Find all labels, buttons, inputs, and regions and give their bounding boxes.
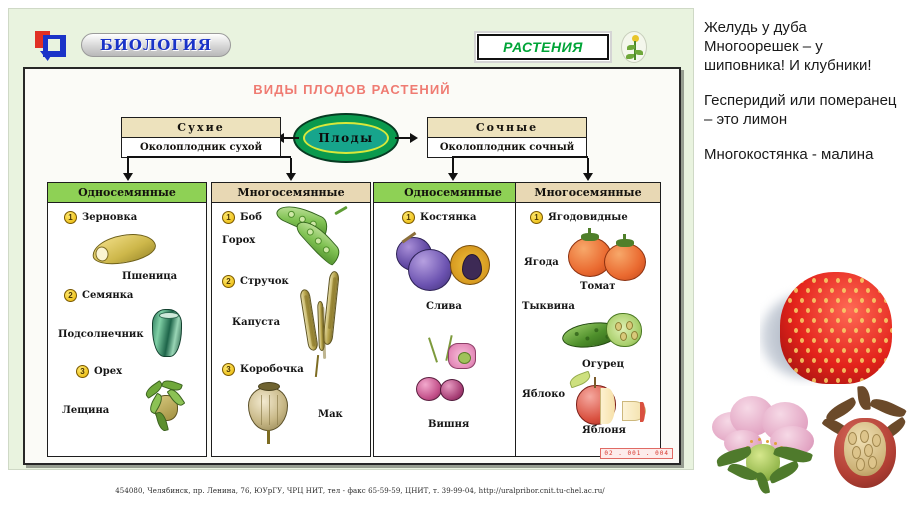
entry-label: Зерновка [82, 212, 137, 223]
entry-label: Стручок [240, 276, 289, 287]
subject-badge: БИОЛОГИЯ [81, 33, 231, 57]
entry-label: Коробочка [240, 364, 304, 375]
subject-label: БИОЛОГИЯ [100, 36, 212, 54]
column-dry-polyspermous: Многосемянные 1 Боб Горох 2 Стручок [211, 182, 371, 457]
rosehip-illustrations [706, 382, 906, 504]
label-yabloko: Яблоко [522, 389, 565, 400]
entry-label: Орех [94, 366, 122, 377]
caption-sliva: Слива [426, 301, 462, 312]
caption-vishnya: Вишня [428, 419, 469, 430]
column-2-header: Многосемянные [212, 183, 370, 203]
entry-zernovka: 1 Зерновка [64, 211, 137, 224]
number-badge-icon: 1 [222, 211, 235, 224]
notes-panel: Желудь у дуба Многоорешек – у шиповника!… [704, 18, 904, 180]
entry-label: Костянка [420, 212, 476, 223]
center-node-fruits: Плоды [293, 113, 399, 163]
tomato-illustration [564, 231, 656, 283]
category-dry-title: Сухие [122, 118, 280, 138]
center-node-label: Плоды [318, 131, 373, 145]
poster-footer: 454080, Челябинск, пр. Ленина, 76, ЮУрГУ… [17, 487, 703, 495]
caption-pshenica: Пшеница [122, 271, 177, 282]
column-4-header: Многосемянные [516, 183, 660, 203]
entry-korobochka: 3 Коробочка [222, 363, 304, 376]
diagram-board: ВИДЫ ПЛОДОВ РАСТЕНИЙ Плоды Сухие Околопл… [23, 67, 681, 465]
topic-badge: РАСТЕНИЯ [477, 34, 609, 60]
poppy-capsule-illustration [248, 387, 288, 431]
category-juicy-title: Сочные [428, 118, 586, 138]
entry-label: Ягодовидные [548, 212, 628, 223]
entry-yagodovidnye: 1 Ягодовидные [530, 211, 628, 224]
entry-kostyanka: 1 Костянка [402, 211, 476, 224]
caption-goroh: Горох [222, 235, 255, 246]
entry-label: Боб [240, 212, 262, 223]
category-juicy-subtitle: Околоплодник сочный [428, 138, 586, 157]
connector-dry-right [290, 158, 292, 174]
strawberry-photo [760, 268, 910, 386]
caption-ogurec: Огурец [582, 359, 624, 370]
rosehip-fruit-illustration [822, 392, 908, 492]
plum-illustration [392, 233, 516, 293]
sunflower-seed-illustration [152, 309, 182, 357]
entry-struchok: 2 Стручок [222, 275, 289, 288]
entry-label: Семянка [82, 290, 133, 301]
pea-pod-illustration [268, 207, 368, 269]
entry-bob: 1 Боб [222, 211, 262, 224]
number-badge-icon: 1 [402, 211, 415, 224]
caption-kapusta: Капуста [232, 317, 280, 328]
number-badge-icon: 1 [530, 211, 543, 224]
caption-mak: Мак [318, 409, 343, 420]
poster-header: БИОЛОГИЯ РАСТЕНИЯ [9, 9, 693, 61]
caption-tomat: Томат [580, 281, 615, 292]
connector-juicy-left [452, 158, 454, 174]
cherry-illustration [398, 333, 508, 413]
category-dry-subtitle: Околоплодник сухой [122, 138, 280, 157]
biology-poster: БИОЛОГИЯ РАСТЕНИЯ ВИДЫ ПЛОДОВ РАСТЕНИЙ П… [8, 8, 694, 470]
label-yagoda: Ягода [524, 257, 559, 268]
number-badge-icon: 3 [222, 363, 235, 376]
apple-illustration [570, 371, 660, 429]
cabbage-silique-illustration [294, 267, 364, 377]
entry-oreh: 3 Орех [76, 365, 122, 378]
screenshot-root: БИОЛОГИЯ РАСТЕНИЯ ВИДЫ ПЛОДОВ РАСТЕНИЙ П… [0, 0, 910, 512]
number-badge-icon: 2 [222, 275, 235, 288]
note-text: Многокостянка - малина [704, 145, 904, 164]
caption-leshina: Лещина [62, 405, 109, 416]
number-badge-icon: 2 [64, 289, 77, 302]
biology-logo-icon [35, 31, 71, 61]
column-juicy-polyspermous: Многосемянные 1 Ягодовидные Ягода Томат … [515, 182, 661, 457]
caption-podsolnechnik: Подсолнечник [58, 329, 144, 340]
arrow-right-icon [395, 137, 411, 139]
connector-juicy-right [587, 158, 589, 174]
arrow-left-icon [283, 137, 299, 139]
entry-semyanka: 2 Семянка [64, 289, 133, 302]
plant-icon [621, 31, 647, 63]
cucumber-illustration [562, 309, 658, 361]
caption-yablonya: Яблоня [582, 425, 626, 436]
column-1-header: Односемянные [48, 183, 206, 203]
note-text: Гесперидий или померанец – это лимон [704, 91, 904, 129]
wheat-grain-illustration [90, 230, 158, 268]
topic-label: РАСТЕНИЯ [503, 39, 583, 55]
column-juicy-monospermous: Односемянные 1 Костянка Слива [373, 182, 533, 457]
column-3-header: Односемянные [374, 183, 532, 203]
document-code: 02 . 001 . 004 [600, 448, 673, 459]
category-box-dry: Сухие Околоплодник сухой [121, 117, 281, 158]
connector-juicy-bar [452, 156, 588, 158]
connector-dry-left [127, 158, 129, 174]
number-badge-icon: 3 [76, 365, 89, 378]
note-text: Желудь у дуба Многоорешек – у шиповника!… [704, 18, 904, 75]
page-title: ВИДЫ ПЛОДОВ РАСТЕНИЙ [25, 82, 679, 97]
category-box-juicy: Сочные Околоплодник сочный [427, 117, 587, 158]
hazelnut-illustration [144, 379, 190, 433]
connector-dry-bar [127, 156, 291, 158]
column-dry-monospermous: Односемянные 1 Зерновка Пшеница 2 Семянк… [47, 182, 207, 457]
rosehip-flower-illustration [712, 396, 816, 488]
number-badge-icon: 1 [64, 211, 77, 224]
